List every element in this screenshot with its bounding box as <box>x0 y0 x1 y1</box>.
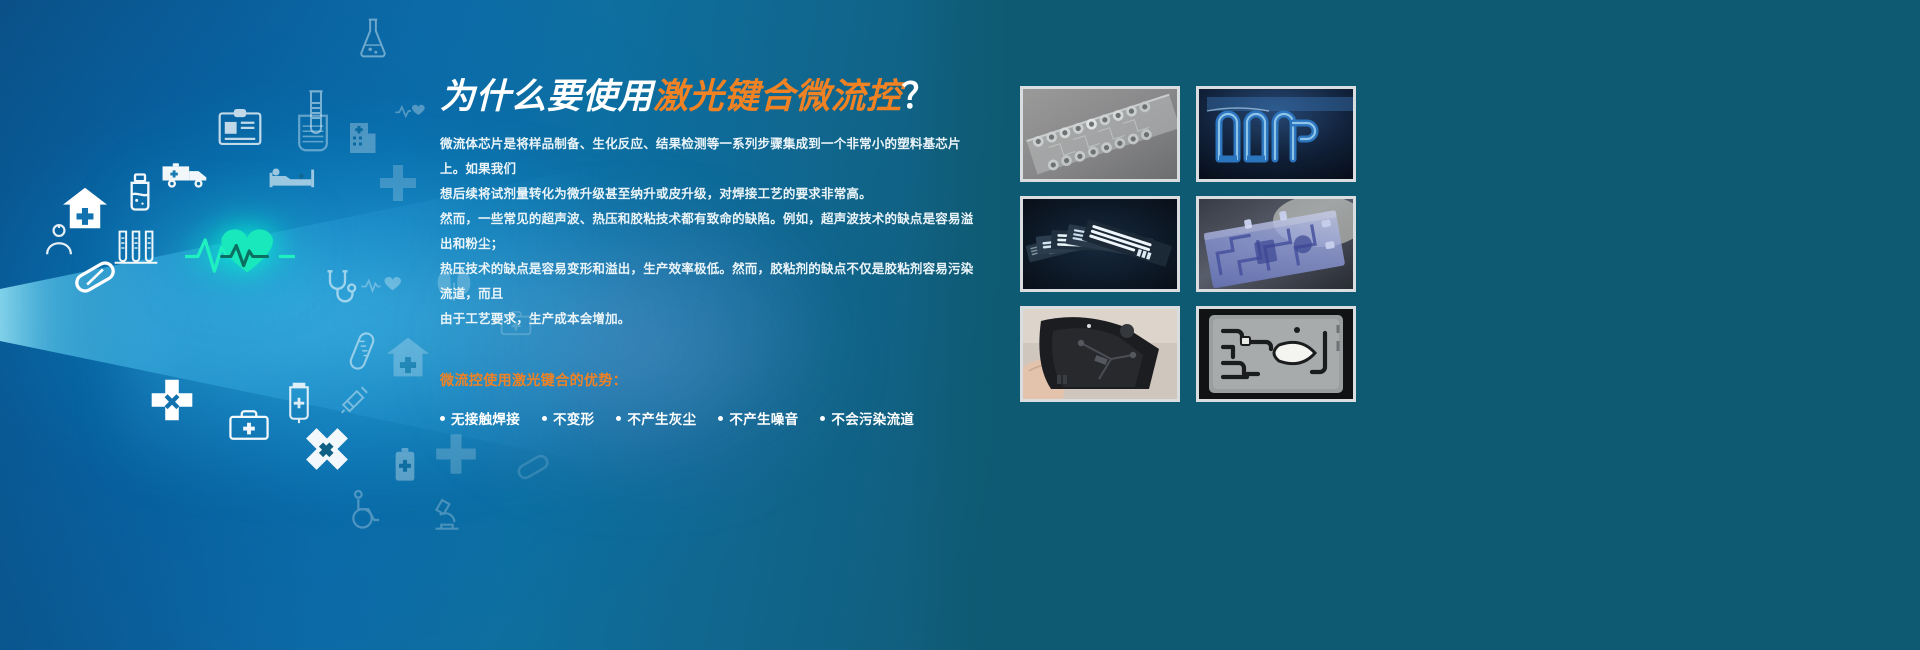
house-cross-icon <box>385 336 431 378</box>
paragraph-line: 想后续将试剂量转化为微升级甚至纳升或皮升级，对焊接工艺的要求非常高。 <box>440 182 985 207</box>
page-title: 为什么要使用激光键合微流控？ <box>440 76 985 117</box>
syringe-icon <box>340 382 372 418</box>
heartbeat-icon <box>394 100 428 122</box>
list-item: 不产生灰尘 <box>616 408 696 428</box>
pill-capsule-icon <box>72 258 118 296</box>
cross-icon <box>434 432 478 476</box>
cross-icon <box>293 415 361 483</box>
copy-block: 为什么要使用激光键合微流控？ 微流体芯片是将样品制备、生化反应、结果检测等一系列… <box>440 76 985 428</box>
battery-icon <box>393 448 417 482</box>
paragraph-line: 热压技术的缺点是容易变形和溢出，生产效率极低。然而，胶粘剂的缺点不仅是胶粘剂容易… <box>440 257 985 307</box>
gallery-item-6[interactable] <box>1196 306 1356 402</box>
bullet-dot-icon <box>820 416 825 421</box>
paragraph-line: 微流体芯片是将样品制备、生化反应、结果检测等一系列步骤集成到一个非常小的塑料基芯… <box>440 132 985 182</box>
list-item: 不产生噪音 <box>718 408 798 428</box>
bullet-dot-icon <box>718 416 723 421</box>
list-item: 不变形 <box>542 408 594 428</box>
test-tube-rack-icon <box>113 228 159 268</box>
bullet-dot-icon <box>440 416 445 421</box>
clipboard-icon <box>218 108 262 146</box>
bandage-cross-icon <box>150 378 194 422</box>
pill-capsule-icon <box>515 452 551 482</box>
heart-pulse-glow-icon <box>185 218 295 290</box>
gallery-item-4[interactable] <box>1196 196 1356 292</box>
ambulance-icon <box>161 160 211 190</box>
title-prefix: 为什么要使用 <box>440 77 653 116</box>
advantages-subhead: 微流控使用激光键合的优势： <box>440 370 985 390</box>
beaker-icon <box>294 112 332 154</box>
thermometer-icon <box>349 330 375 372</box>
list-item: 不会污染流道 <box>820 408 914 428</box>
wheelchair-icon <box>348 490 382 530</box>
gallery-item-2[interactable] <box>1196 86 1356 182</box>
microscope-icon <box>430 496 464 532</box>
gallery-item-5[interactable] <box>1020 306 1180 402</box>
flask-icon <box>356 16 390 60</box>
stethoscope-icon <box>323 268 357 308</box>
list-item-label: 不变形 <box>553 408 594 428</box>
house-cross-icon <box>61 186 109 230</box>
gallery-item-3[interactable] <box>1020 196 1180 292</box>
promo-banner: 为什么要使用激光键合微流控？ 微流体芯片是将样品制备、生化反应、结果检测等一系列… <box>0 0 1920 650</box>
gallery-item-1[interactable] <box>1020 86 1180 182</box>
list-item-label: 不会污染流道 <box>831 408 914 428</box>
list-item-label: 无接触焊接 <box>451 408 520 428</box>
body-copy: 微流体芯片是将样品制备、生化反应、结果检测等一系列步骤集成到一个非常小的塑料基芯… <box>440 132 985 332</box>
list-item-label: 不产生灰尘 <box>627 408 696 428</box>
paragraph-line: 由于工艺要求，生产成本会增加。 <box>440 307 985 332</box>
hospital-bed-icon <box>268 163 316 189</box>
product-gallery <box>1020 86 1356 402</box>
title-highlight: 激光键合微流控 <box>653 77 902 116</box>
doctor-icon <box>42 222 76 256</box>
bullet-dot-icon <box>616 416 621 421</box>
paragraph-line: 然而，一些常见的超声波、热压和胶粘技术都有致命的缺陷。例如，超声波技术的缺点是容… <box>440 207 985 257</box>
first-aid-kit-icon <box>228 408 270 442</box>
iv-bag-icon <box>285 382 313 424</box>
advantages-list: 无接触焊接 不变形 不产生灰尘 不产生噪音 不会污染流道 <box>440 408 985 428</box>
medicine-bottle-icon <box>126 172 154 212</box>
test-tube-icon <box>305 88 327 138</box>
heart-ecg-icon <box>360 272 404 298</box>
title-question-mark: ？ <box>902 77 938 116</box>
hospital-building-icon <box>345 120 379 156</box>
list-item-label: 不产生噪音 <box>729 408 798 428</box>
list-item: 无接触焊接 <box>440 408 520 428</box>
bullet-dot-icon <box>542 416 547 421</box>
cross-icon <box>378 163 418 203</box>
